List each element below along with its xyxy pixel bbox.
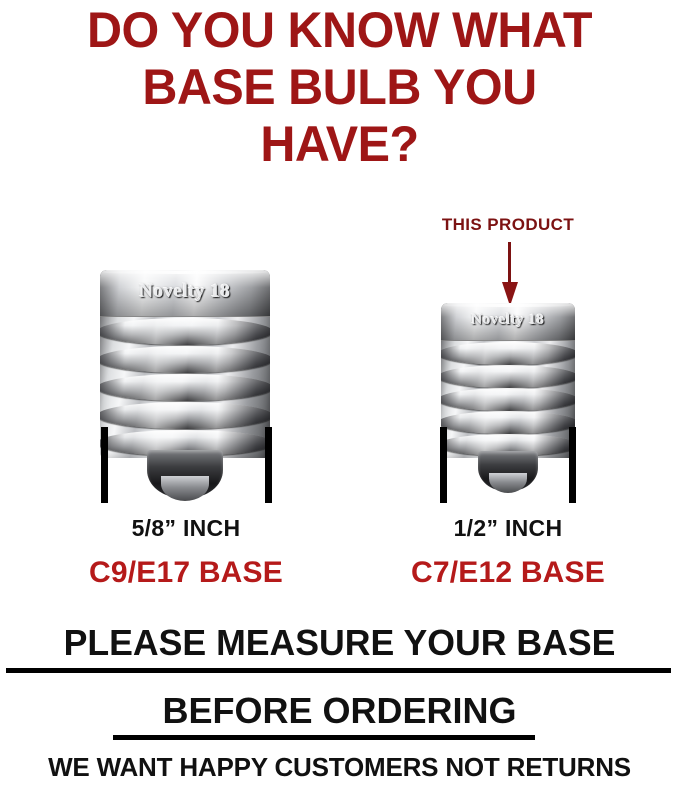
base-thread-ring	[441, 411, 575, 434]
measure-tick-left-start	[101, 427, 108, 503]
base-collar: Novelty 18	[100, 270, 270, 317]
page-title-line-3: HAVE?	[10, 116, 669, 173]
base-brand-text: Novelty 18	[441, 312, 575, 329]
base-thread-ring	[441, 388, 575, 411]
base-thread-ring	[441, 342, 575, 365]
base-brand-text: Novelty 18	[100, 281, 270, 303]
page-title-line-2: BASE BULB YOU	[10, 59, 669, 116]
page-title: DO YOU KNOW WHAT BASE BULB YOU HAVE?	[10, 2, 669, 173]
measurement-label-right: 1/2” INCH	[408, 515, 608, 542]
base-thread-ring	[100, 402, 270, 429]
base-contact-tip	[147, 450, 223, 498]
bulb-base-left: Novelty 18	[100, 270, 270, 475]
measure-tick-right-start	[440, 427, 447, 503]
cta-underline-2	[113, 735, 535, 740]
down-arrow-icon	[502, 242, 518, 306]
base-metal-shell: Novelty 18	[100, 270, 270, 458]
base-contact-tip	[478, 451, 538, 491]
base-thread-ring	[100, 374, 270, 401]
this-product-callout-label: THIS PRODUCT	[398, 215, 618, 235]
cta-underline-1	[6, 668, 671, 673]
base-type-label-right: C7/E12 BASE	[378, 556, 638, 590]
cta-line-3: WE WANT HAPPY CUSTOMERS NOT RETURNS	[0, 752, 679, 783]
cta-line-2: BEFORE ORDERING	[0, 690, 679, 732]
measure-tick-left-end	[265, 427, 272, 503]
measurement-label-left: 5/8” INCH	[86, 515, 286, 542]
base-collar: Novelty 18	[441, 303, 575, 341]
page-title-line-1: DO YOU KNOW WHAT	[10, 2, 669, 59]
base-metal-shell: Novelty 18	[441, 303, 575, 458]
base-thread-ring	[441, 365, 575, 388]
base-thread-ring	[100, 346, 270, 373]
bulb-base-right: Novelty 18	[441, 303, 575, 475]
measure-tick-right-end	[569, 427, 576, 503]
base-thread-ring	[100, 318, 270, 345]
base-type-label-left: C9/E17 BASE	[56, 556, 316, 590]
cta-line-1: PLEASE MEASURE YOUR BASE	[3, 622, 675, 664]
